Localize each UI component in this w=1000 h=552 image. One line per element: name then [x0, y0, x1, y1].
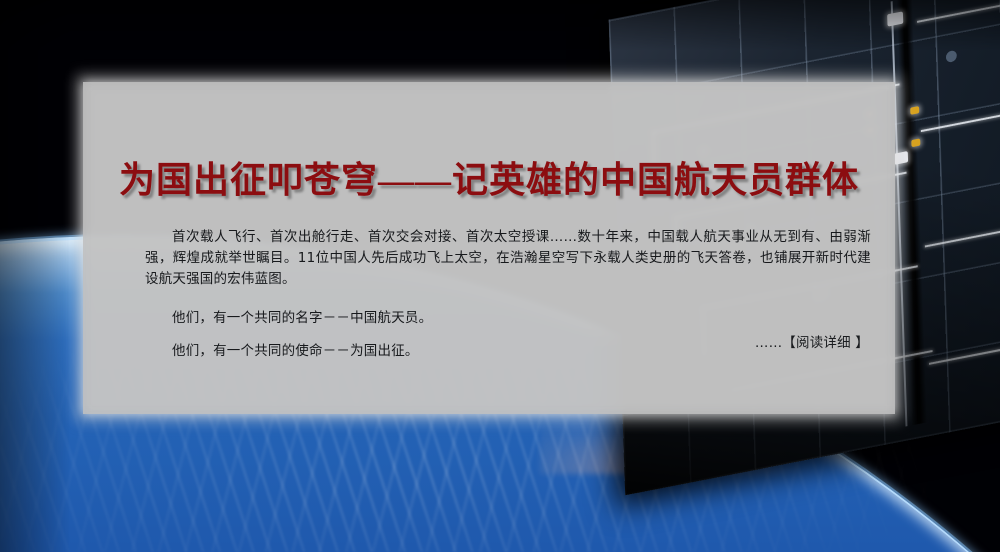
read-more-link[interactable]: ……【阅读详细 】	[755, 335, 869, 351]
article-panel: 为国出征叩苍穹——记英雄的中国航天员群体 首次载人飞行、首次出舱行走、首次交会对…	[83, 82, 895, 414]
page-title: 为国出征叩苍穹——记英雄的中国航天员群体	[83, 158, 895, 202]
article-paragraph: 首次载人飞行、首次出舱行走、首次交会对接、首次太空授课……数十年来，中国载人航天…	[145, 227, 871, 290]
read-more-row: ……【阅读详细 】	[755, 333, 869, 353]
article-paragraph: 他们，有一个共同的名字－－中国航天员。	[145, 308, 871, 329]
page-root: 为国出征叩苍穹——记英雄的中国航天员群体 首次载人飞行、首次出舱行走、首次交会对…	[0, 0, 1000, 552]
